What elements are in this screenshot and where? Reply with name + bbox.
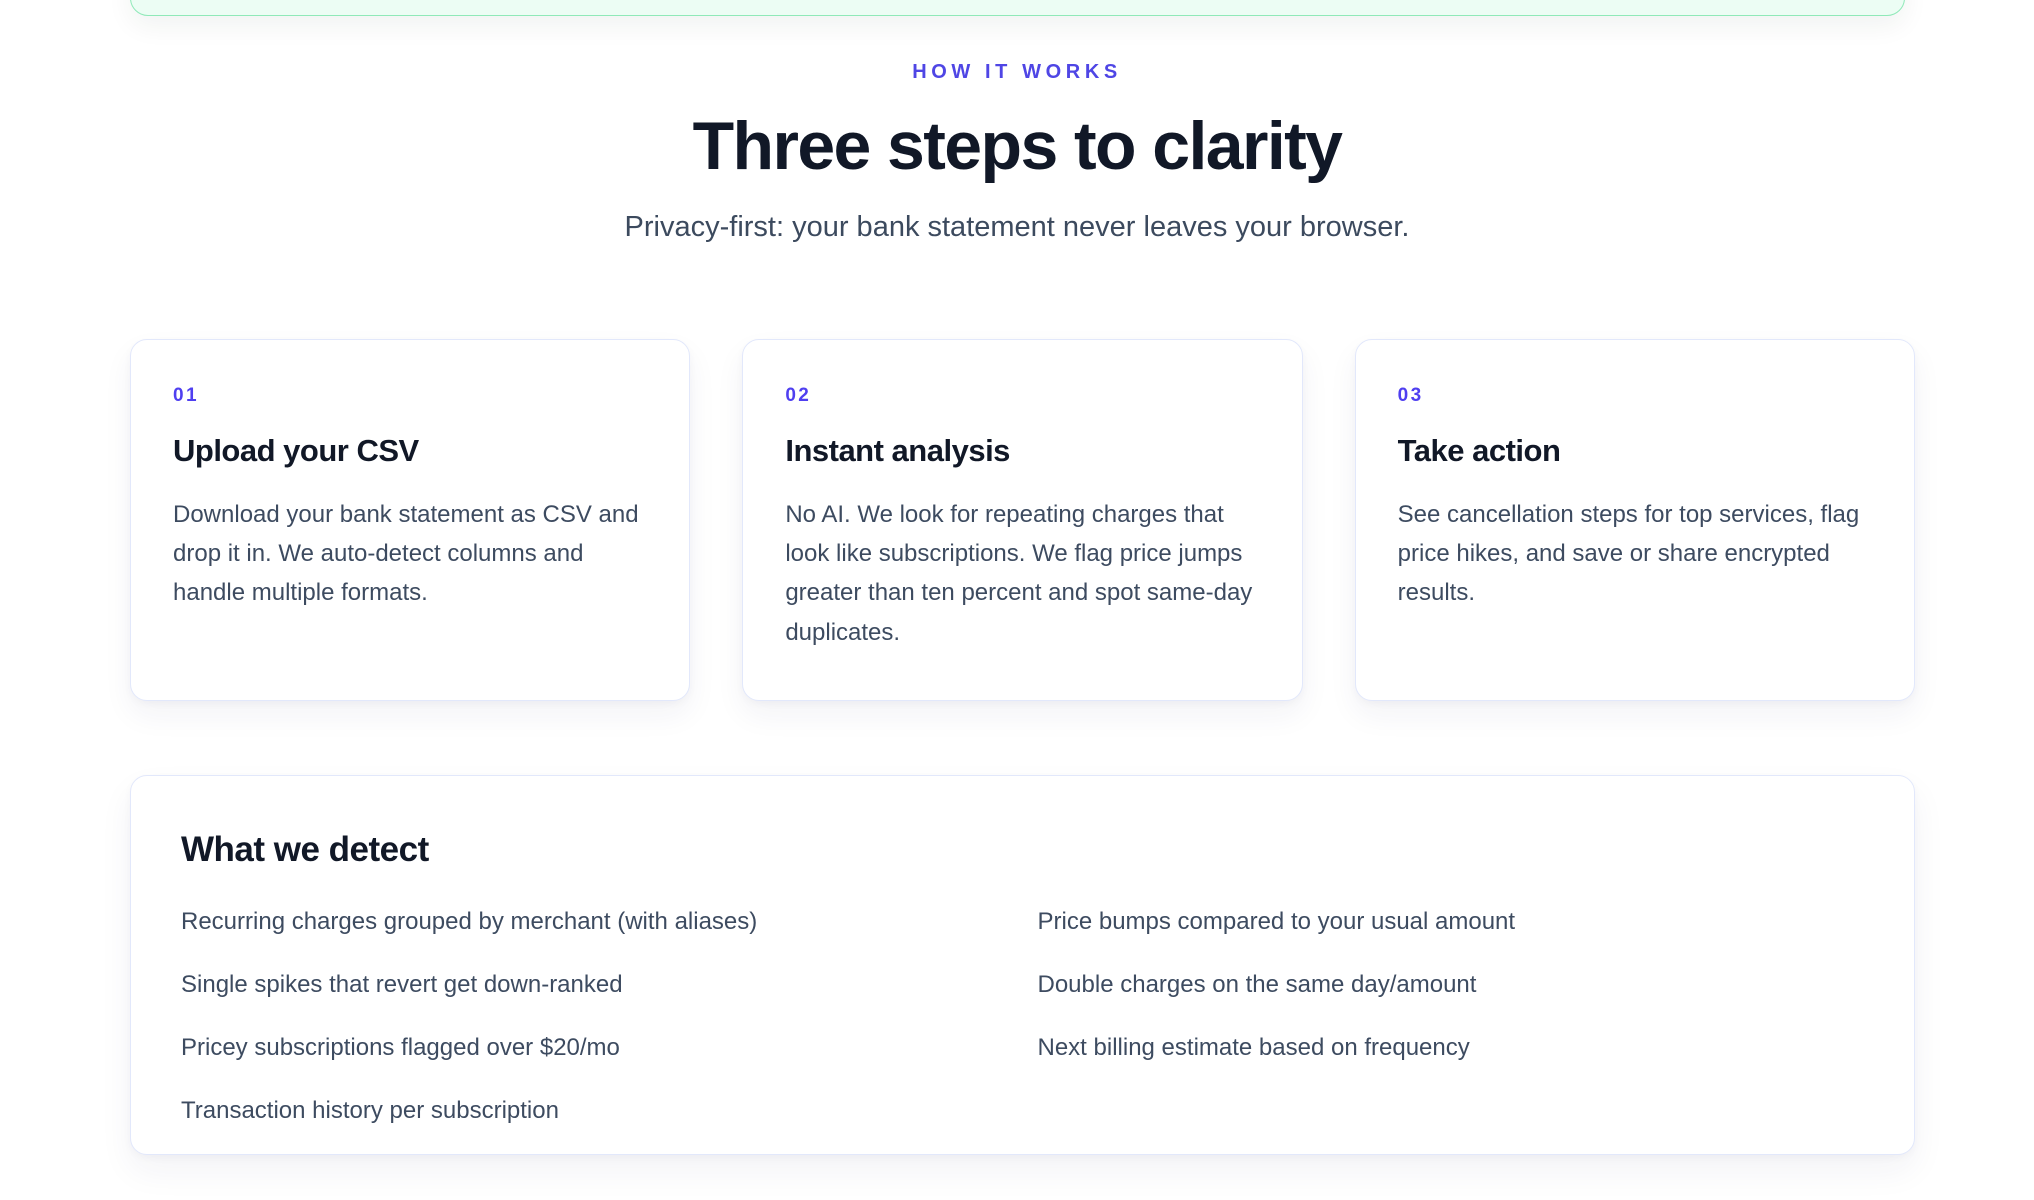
list-item: Single spikes that revert get down-ranke… xyxy=(181,970,1023,1000)
list-item: Recurring charges grouped by merchant (w… xyxy=(181,907,1023,937)
previous-section-panel xyxy=(130,0,1905,16)
step-title: Upload your CSV xyxy=(173,432,647,469)
section-header: HOW IT WORKS Three steps to clarity Priv… xyxy=(0,60,2034,247)
page-title: Three steps to clarity xyxy=(0,110,2034,182)
step-description: Download your bank statement as CSV and … xyxy=(173,495,647,612)
step-description: No AI. We look for repeating charges tha… xyxy=(785,495,1259,651)
detect-columns: Recurring charges grouped by merchant (w… xyxy=(181,907,1864,1126)
step-number: 01 xyxy=(173,386,647,405)
step-title: Take action xyxy=(1398,432,1872,469)
section-subtitle: Privacy-first: your bank statement never… xyxy=(0,208,2034,247)
section-eyebrow: HOW IT WORKS xyxy=(0,60,2034,84)
how-it-works-section: HOW IT WORKS Three steps to clarity Priv… xyxy=(0,0,2034,1200)
what-we-detect-title: What we detect xyxy=(181,829,1864,871)
step-card-3[interactable]: 03 Take action See cancellation steps fo… xyxy=(1355,339,1915,701)
what-we-detect-panel: What we detect Recurring charges grouped… xyxy=(130,775,1915,1155)
step-number: 03 xyxy=(1398,386,1872,405)
step-title: Instant analysis xyxy=(785,432,1259,469)
list-item: Double charges on the same day/amount xyxy=(1038,970,1865,1000)
detect-column-right: Price bumps compared to your usual amoun… xyxy=(1023,907,1865,1126)
list-item: Price bumps compared to your usual amoun… xyxy=(1038,907,1865,937)
list-item: Pricey subscriptions flagged over $20/mo xyxy=(181,1033,1023,1063)
step-cards-row: 01 Upload your CSV Download your bank st… xyxy=(130,339,1915,701)
list-item: Transaction history per subscription xyxy=(181,1096,1023,1126)
step-card-2[interactable]: 02 Instant analysis No AI. We look for r… xyxy=(742,339,1302,701)
step-number: 02 xyxy=(785,386,1259,405)
list-item: Next billing estimate based on frequency xyxy=(1038,1033,1865,1063)
step-card-1[interactable]: 01 Upload your CSV Download your bank st… xyxy=(130,339,690,701)
step-description: See cancellation steps for top services,… xyxy=(1398,495,1872,612)
detect-column-left: Recurring charges grouped by merchant (w… xyxy=(181,907,1023,1126)
